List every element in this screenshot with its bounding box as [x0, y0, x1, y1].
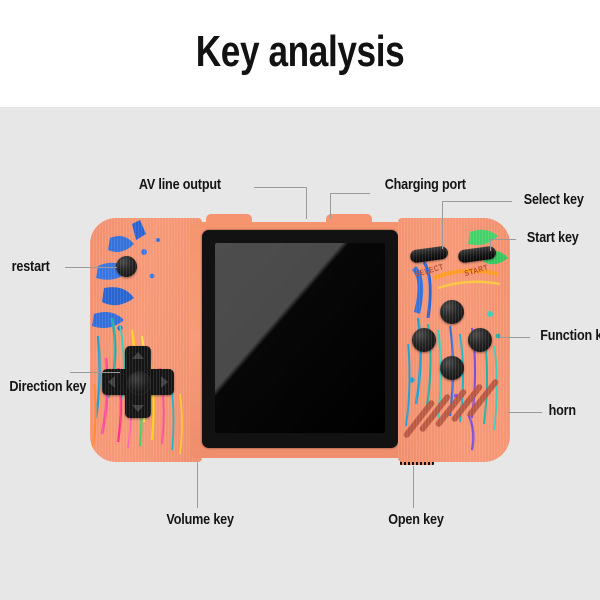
leader-line-horn [508, 412, 542, 413]
annotation-label-direction-key: Direction key [9, 378, 86, 395]
dpad-up-icon [132, 352, 144, 359]
leader-line-volume-key [197, 462, 198, 508]
dpad-down-icon [132, 405, 144, 412]
annotation-label-av-line-output: AV line output [139, 176, 221, 193]
leader-line-av-line-output-v [306, 187, 307, 219]
leader-line-charging-port-h [330, 193, 370, 194]
dpad-right-icon [161, 376, 168, 388]
screen-display [215, 243, 385, 433]
dpad-left-icon [108, 376, 115, 388]
av-line-output-port [206, 214, 252, 226]
annotation-label-horn: horn [549, 402, 576, 419]
face-button-top[interactable] [440, 300, 464, 324]
dpad-center-hub [127, 371, 151, 395]
leader-line-start-key-h [490, 239, 516, 240]
annotation-label-open-key: Open key [388, 511, 443, 528]
leader-line-charging-port-v [330, 193, 331, 219]
device-illustration: SELECT START [90, 218, 510, 462]
face-button-bottom[interactable] [440, 356, 464, 380]
start-button-label: START [463, 263, 489, 278]
direction-pad[interactable] [102, 346, 174, 418]
leader-line-start-key-v [490, 239, 491, 251]
restart-button[interactable] [116, 256, 137, 277]
device-right-grip: SELECT START [398, 218, 510, 462]
leader-line-function-key [500, 337, 530, 338]
leader-line-restart [65, 267, 117, 268]
leader-line-select-key-v [442, 201, 443, 249]
annotation-label-volume-key: Volume key [166, 511, 233, 528]
speaker-grille [414, 386, 500, 438]
leader-line-av-line-output-h [254, 187, 306, 188]
leader-line-select-key-h [442, 201, 512, 202]
annotation-label-charging-port: Charging port [385, 176, 466, 193]
annotation-label-function-key: Function key [540, 327, 600, 344]
annotation-label-select-key: Select key [524, 191, 584, 208]
title-band: Key analysis [0, 0, 600, 107]
face-button-left[interactable] [412, 328, 436, 352]
device-left-grip [90, 218, 202, 462]
page-title: Key analysis [60, 27, 540, 77]
leader-line-direction-key [70, 372, 120, 373]
paint-splatter-left-icon [90, 218, 202, 462]
select-button-label: SELECT [414, 262, 445, 279]
charging-port [326, 214, 372, 226]
face-button-right[interactable] [468, 328, 492, 352]
annotation-label-restart: restart [12, 258, 50, 275]
leader-line-open-key [413, 466, 414, 508]
annotation-label-start-key: Start key [527, 229, 579, 246]
diagram-canvas: Key analysis [0, 0, 600, 600]
screen-bezel [202, 230, 398, 448]
